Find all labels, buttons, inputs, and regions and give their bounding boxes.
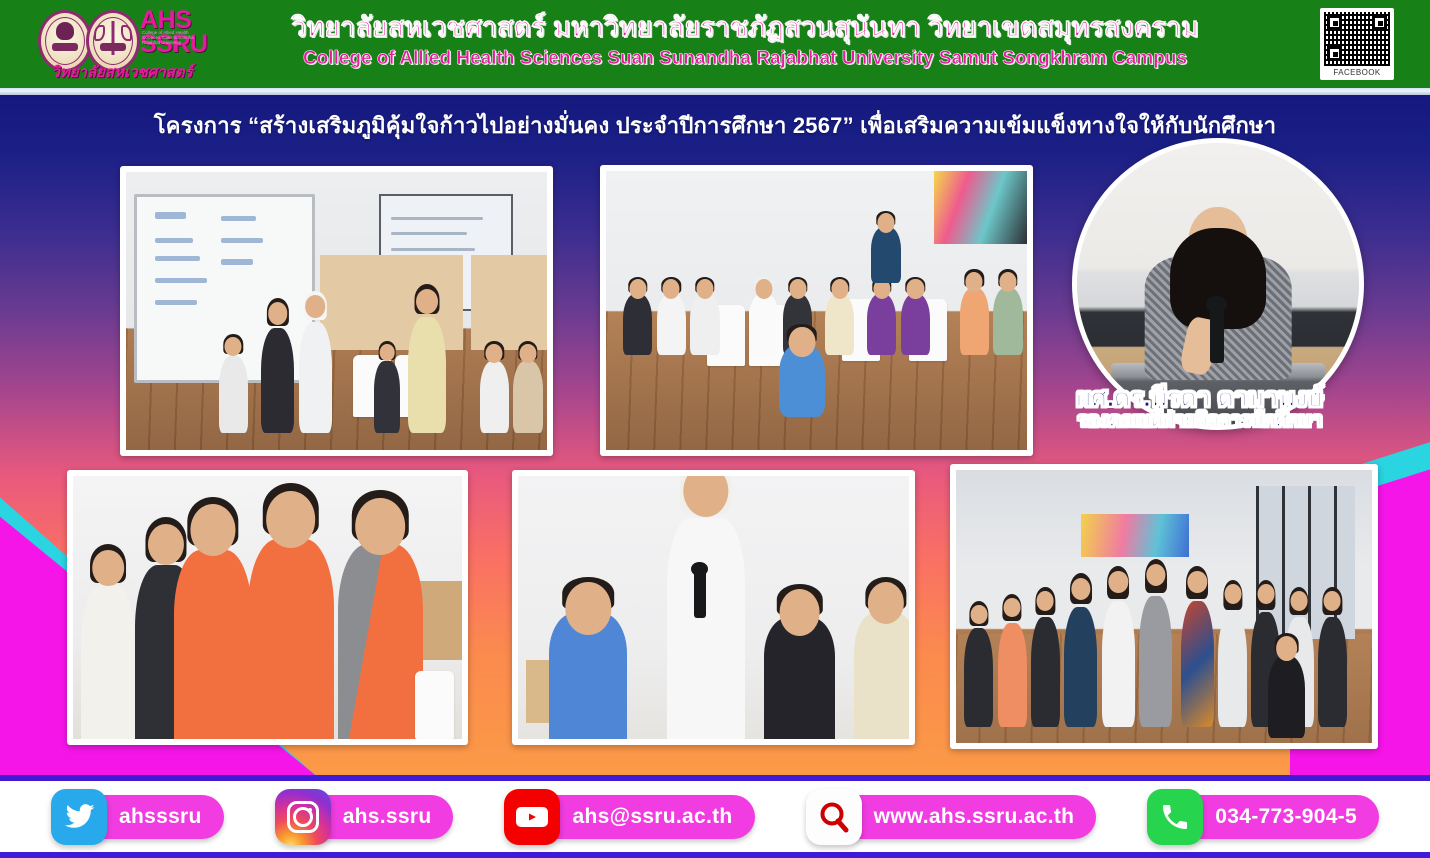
phone-icon[interactable]: [1147, 789, 1203, 845]
logo-acronym-ahs: AHS: [140, 8, 207, 32]
speaker-role: รองคณบดีฝ่ายกิจการนักศึกษา: [1020, 411, 1380, 431]
instagram-icon[interactable]: [275, 789, 331, 845]
header-title-group: วิทยาลัยสหเวชศาสตร์ มหาวิทยาลัยราชภัฏสวน…: [215, 8, 1275, 72]
facebook-qr-code[interactable]: FACEBOOK: [1320, 8, 1394, 80]
website-url[interactable]: www.ahs.ssru.ac.th: [828, 795, 1097, 839]
photo-group-photo: [950, 464, 1378, 749]
header-title-thai: วิทยาลัยสหเวชศาสตร์ มหาวิทยาลัยราชภัฏสวน…: [215, 8, 1275, 46]
university-logo: AHS SSRU College of Allied Health Scienc…: [36, 4, 206, 86]
qr-finder-bottom-left: [1327, 46, 1342, 61]
qr-label: FACEBOOK: [1322, 68, 1392, 77]
poster-root: AHS SSRU College of Allied Health Scienc…: [0, 0, 1430, 858]
qr-finder-top-left: [1327, 15, 1342, 30]
logo-subtext: College of Allied Health Sciences Suan S…: [142, 30, 204, 45]
twitter-icon[interactable]: [51, 789, 107, 845]
page-header: AHS SSRU College of Allied Health Scienc…: [0, 0, 1430, 88]
speaker-caption: ผศ.ดร.พีรดา ดามาพงษ์ รองคณบดีฝ่ายกิจการน…: [1020, 385, 1380, 431]
photo-group-activity-circle: [600, 165, 1033, 456]
social-footer: ahsssru ahs.ssru ahs@ssru.ac.th: [0, 775, 1430, 858]
social-item-instagram[interactable]: ahs.ssru: [275, 790, 454, 844]
social-item-phone[interactable]: 034-773-904-5: [1147, 790, 1379, 844]
social-item-website[interactable]: www.ahs.ssru.ac.th: [806, 790, 1097, 844]
header-title-english: College of Allied Health Sciences Suan S…: [215, 46, 1275, 72]
photo-student-question: [512, 470, 915, 745]
speaker-name: ผศ.ดร.พีรดา ดามาพงษ์: [1020, 385, 1380, 411]
search-icon[interactable]: [806, 789, 862, 845]
header-divider: [0, 88, 1430, 95]
social-item-twitter[interactable]: ahsssru: [51, 790, 224, 844]
logo-thai-name: วิทยาลัยสหเวชศาสตร์: [38, 60, 206, 84]
youtube-email[interactable]: ahs@ssru.ac.th: [526, 795, 754, 839]
microphone-icon: [1210, 307, 1224, 363]
qr-finder-top-right: [1372, 15, 1387, 30]
social-item-youtube[interactable]: ahs@ssru.ac.th: [504, 790, 754, 844]
youtube-icon[interactable]: [504, 789, 560, 845]
photo-classroom-presentation: [120, 166, 553, 456]
photo-meditation-row: [67, 470, 468, 745]
microphone-icon: [694, 571, 706, 618]
